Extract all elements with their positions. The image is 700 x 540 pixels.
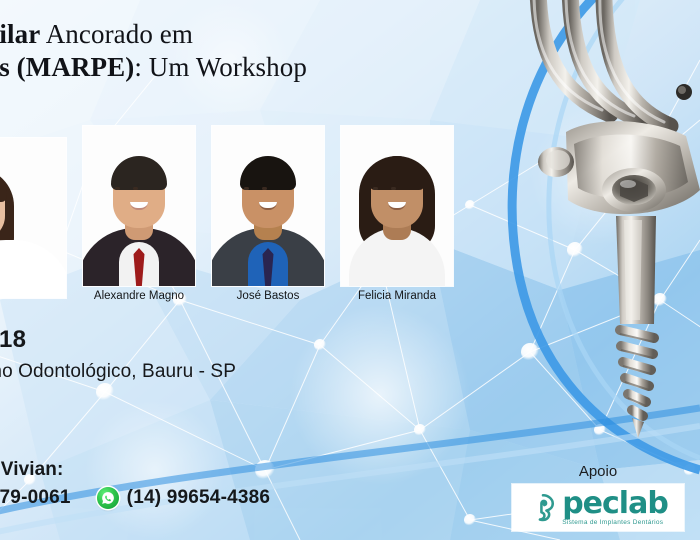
title-line-2-regular: : Um Workshop: [134, 52, 307, 82]
page-title: sor Maxilar Ancorado em mplantes (MARPE)…: [0, 18, 524, 84]
speaker-card: [0, 138, 66, 302]
contact-block: s com Vivian: 19 | 3879-0061 (14) 99654-…: [0, 459, 270, 509]
peclab-logo-text: peclab: [562, 489, 668, 519]
peclab-logo-mark: [528, 493, 558, 523]
speaker-card: Alexandre Magno: [83, 126, 195, 302]
speakers-row: Alexandre Magno José Bastos: [0, 126, 453, 302]
title-line-1-bold: sor Maxilar: [0, 19, 40, 49]
sponsor-logo: peclab Sistema de Implantes Dentários: [512, 484, 684, 531]
speaker-photo: [341, 126, 453, 286]
speaker-photo: [0, 138, 66, 298]
phone-numbers[interactable]: 19 | 3879-0061: [0, 487, 71, 509]
speaker-photo: [212, 126, 324, 286]
contact-heading: s com Vivian:: [0, 459, 270, 481]
contact-numbers-row: 19 | 3879-0061 (14) 99654-4386: [0, 487, 270, 509]
speaker-name: José Bastos: [212, 290, 324, 302]
peclab-logo-tagline: Sistema de Implantes Dentários: [562, 520, 668, 527]
title-line-2-bold: mplantes (MARPE): [0, 52, 134, 82]
title-line-2: mplantes (MARPE): Um Workshop: [0, 51, 524, 84]
sponsor-block: Apoio peclab Sistema de Implantes Dentár…: [512, 463, 684, 531]
sponsor-label: Apoio: [512, 463, 684, 480]
event-date: 09/2018: [0, 326, 236, 354]
speaker-name: Alexandre Magno: [83, 290, 195, 302]
speaker-photo: [83, 126, 195, 286]
speaker-name: Felicia Miranda: [341, 290, 453, 302]
speaker-card: José Bastos: [212, 126, 324, 302]
whatsapp-number[interactable]: (14) 99654-4386: [127, 487, 271, 509]
event-time: 8h: [0, 388, 236, 410]
whatsapp-icon[interactable]: [97, 487, 119, 509]
event-info: 09/2018 e Ensino Odontológico, Bauru - S…: [0, 326, 236, 410]
title-line-1-regular: Ancorado em: [40, 19, 193, 49]
event-location: e Ensino Odontológico, Bauru - SP: [0, 361, 236, 383]
title-line-1: sor Maxilar Ancorado em: [0, 18, 524, 51]
speaker-card: Felicia Miranda: [341, 126, 453, 302]
poster-canvas: sor Maxilar Ancorado em mplantes (MARPE)…: [0, 0, 700, 540]
